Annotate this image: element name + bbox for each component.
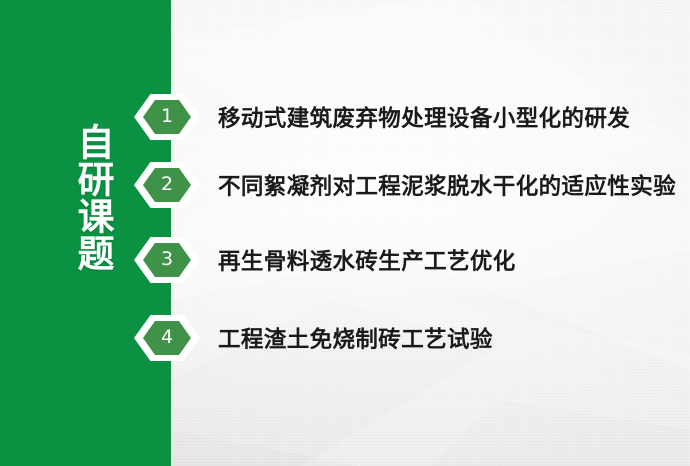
item-number: 4	[143, 321, 191, 355]
topic-list: 1 移动式建筑废弃物处理设备小型化的研发 2 不同絮凝剂对工程泥浆脱水干化的适应…	[0, 0, 690, 466]
hexagon-badge-2: 2	[134, 162, 200, 208]
item-number: 1	[143, 100, 191, 134]
list-item-label: 不同絮凝剂对工程泥浆脱水干化的适应性实验	[218, 162, 676, 208]
slide-canvas: 自研课题 1 移动式建筑废弃物处理设备小型化的研发 2 不同絮凝剂对工程泥浆脱水…	[0, 0, 690, 466]
list-item-label: 再生骨料透水砖生产工艺优化	[218, 237, 516, 283]
item-number: 2	[143, 168, 191, 202]
list-item-label: 工程渣土免烧制砖工艺试验	[218, 315, 493, 361]
list-item-label: 移动式建筑废弃物处理设备小型化的研发	[218, 94, 630, 140]
hexagon-badge-1: 1	[134, 94, 200, 140]
hexagon-badge-3: 3	[134, 237, 200, 283]
item-number: 3	[143, 243, 191, 277]
hexagon-badge-4: 4	[134, 315, 200, 361]
